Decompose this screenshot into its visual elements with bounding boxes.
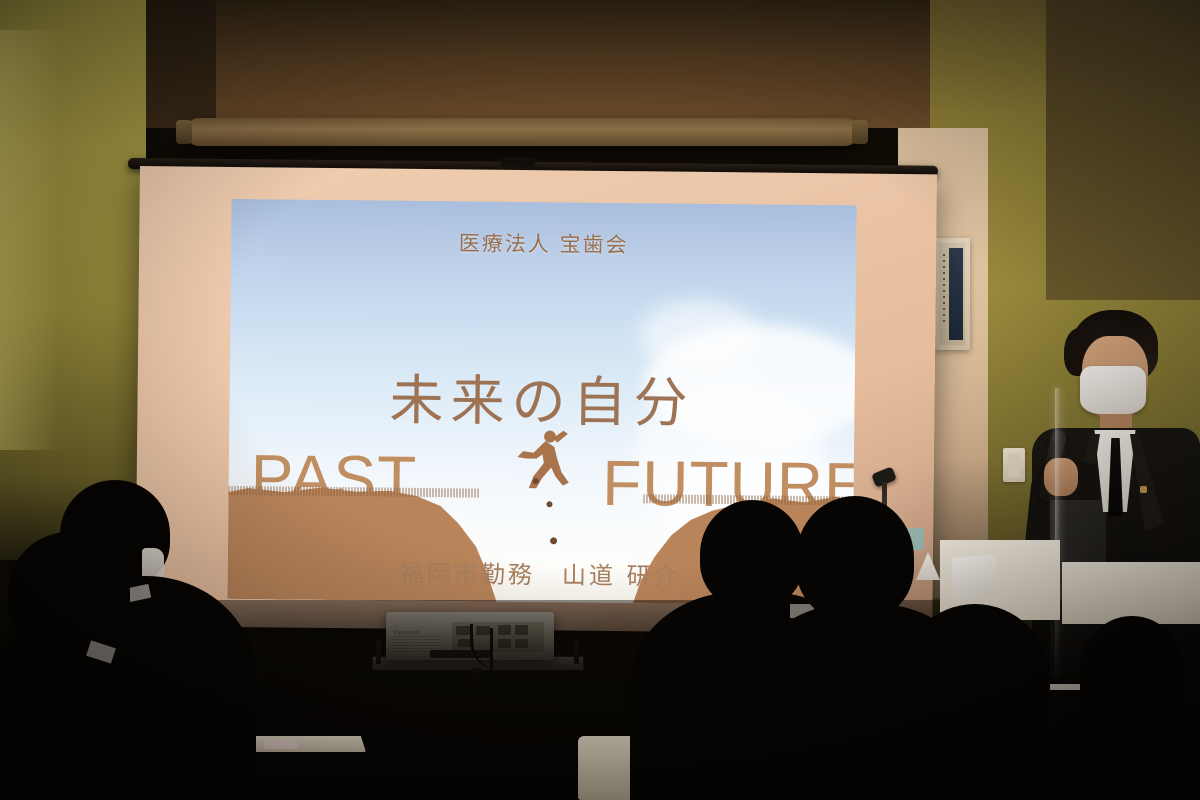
soffit-side-face: [146, 0, 216, 128]
artwork-vertical-text: [943, 254, 945, 326]
running-figure-icon: [501, 420, 576, 495]
audience-member-4-head: [796, 496, 914, 620]
ceiling-soffit: [146, 0, 1046, 128]
switch-rocker-bottom[interactable]: [1008, 467, 1020, 477]
switch-rocker-top[interactable]: [1008, 453, 1020, 463]
left-wall-highlight: [0, 30, 60, 450]
photo-scene: 医療法人 宝歯会 未来の自分 PAST FUTURE 福岡市勤務 山道 研介: [0, 0, 1200, 800]
falling-pebble-2: [546, 501, 552, 507]
roller-cap-left: [176, 120, 192, 144]
slide-organization-name: 医療法人 宝歯会: [231, 225, 856, 262]
falling-pebble-1: [533, 478, 539, 484]
artwork-panel: [949, 248, 963, 340]
left-wall: [0, 0, 146, 560]
laptop-device: [952, 554, 996, 600]
right-wall-corner: [1046, 0, 1200, 300]
roller-cap-right: [852, 120, 868, 144]
side-table: [1062, 562, 1200, 624]
lapel-pin-badge: [1140, 486, 1147, 493]
audience-member-6-shoulders: [1052, 700, 1200, 800]
paper-on-desk-left: [264, 740, 298, 749]
framed-artwork: [934, 238, 970, 350]
presenter-hand: [1044, 458, 1078, 496]
falling-pebble-3: [550, 537, 557, 544]
face-mask: [1080, 366, 1146, 414]
screen-roller-housing: [186, 118, 858, 146]
